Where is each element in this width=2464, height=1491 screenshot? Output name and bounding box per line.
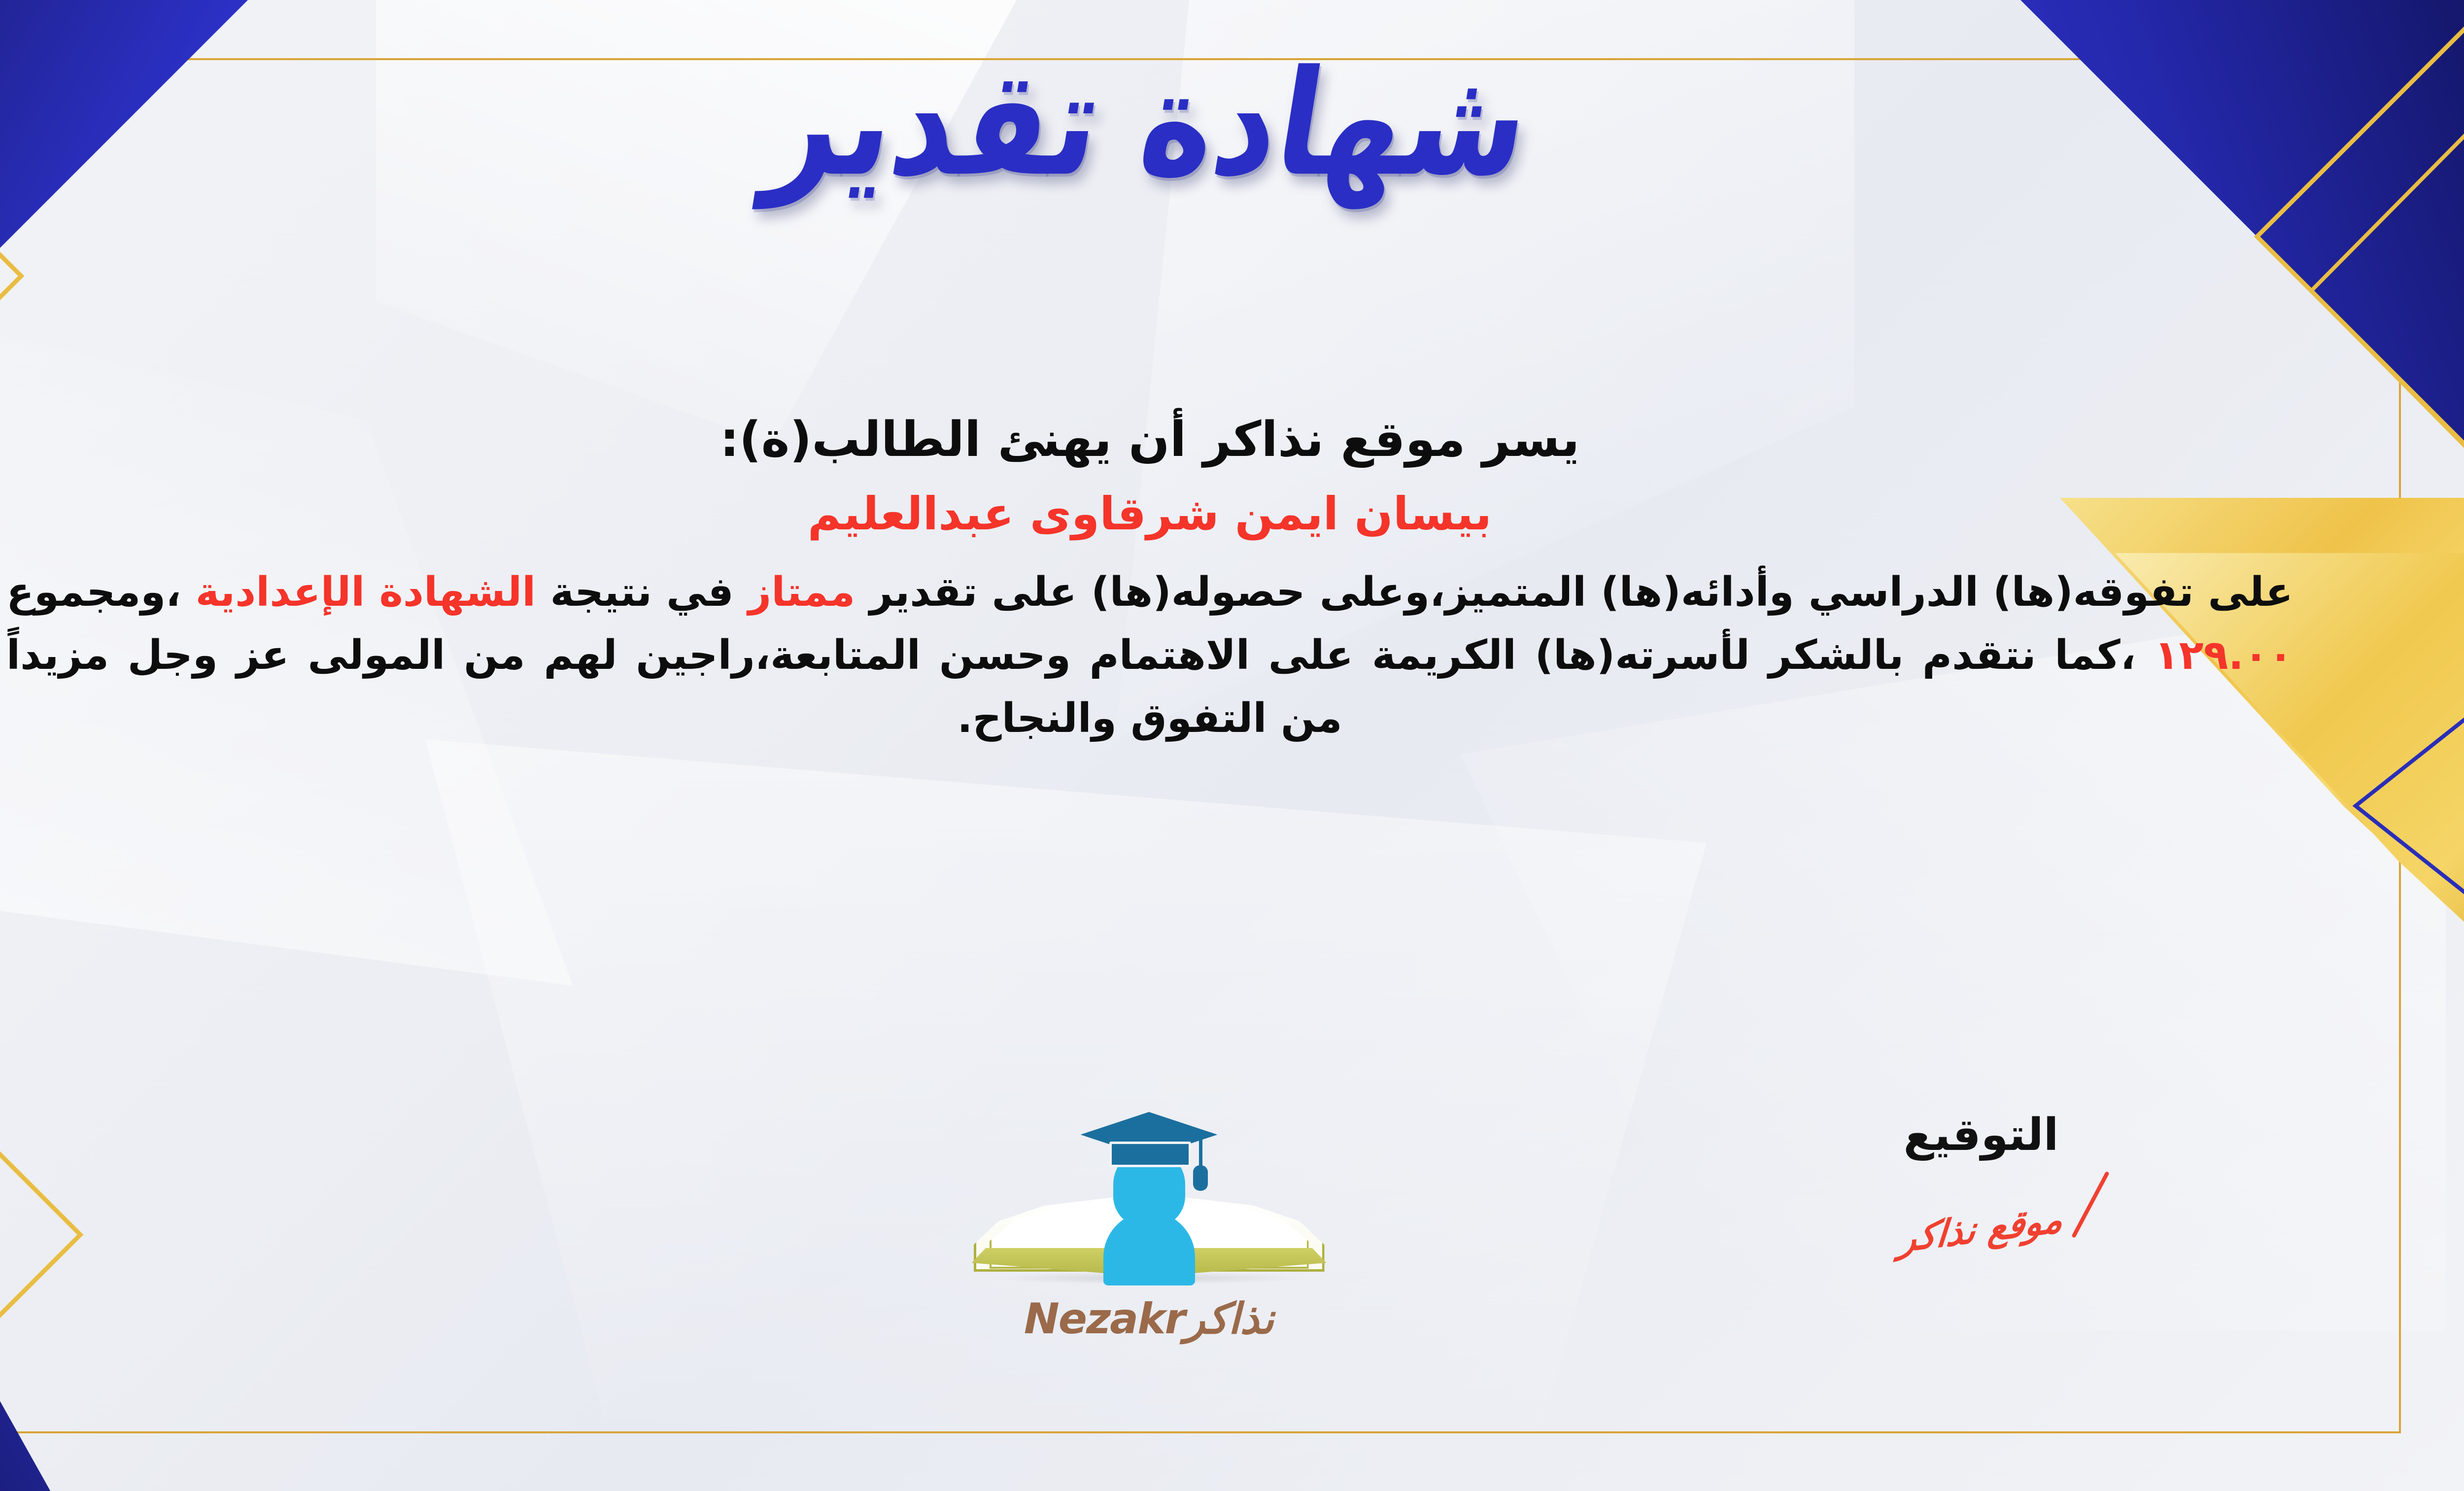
signature-mark: موقع نذاكر [1843,1182,2119,1276]
logo-wordmark-latin: Nezakr [1024,1294,1185,1344]
certificate-body: يسر موقع نذاكر أن يهنئ الطالب(ة): بيسان … [0,412,2303,750]
tassel-cord [1199,1132,1202,1170]
citation-segment-2: في نتيجة [550,569,733,616]
mortarboard-band [1109,1142,1191,1167]
citation-segment-1: على تفوقه(ها) الدراسي وأدائه(ها) المتميز… [869,569,2293,616]
brand-logo: نذاكرNezakr [957,1099,1341,1344]
greeting-line: يسر موقع نذاكر أن يهنئ الطالب(ة): [0,412,2303,468]
citation-segment-4: ،كما نتقدم بالشكر لأسرته(ها) الكريمة على… [6,632,2136,742]
citation-segment-3: ،ومجموع [6,569,181,616]
grade-value: ممتاز [748,569,855,616]
total-score-value: ١٢٩.٠٠ [2155,632,2293,679]
student-name: بيسان ايمن شرقاوى عبدالعليم [0,487,2303,540]
signature-handwriting: موقع نذاكر [1840,1165,2122,1294]
signature-block: التوقيع موقع نذاكر [1843,1109,2119,1276]
certificate-canvas: شهادة تقدير يسر موقع نذاكر أن يهنئ الطال… [0,0,2464,1491]
gold-chevron-line-bottom-left [0,840,475,1491]
tassel-knot [1193,1165,1208,1191]
paper-facet-1 [376,0,1017,444]
logo-wordmark-arabic: نذاكر [1185,1294,1274,1344]
signature-label: التوقيع [1843,1109,2119,1161]
certificate-name: الشهادة الإعدادية [196,569,536,616]
page-title: شهادة تقدير [756,33,1542,215]
logo-wordmark: نذاكرNezakr [957,1294,1341,1344]
citation-paragraph: على تفوقه(ها) الدراسي وأدائه(ها) المتميز… [0,561,2303,750]
blue-chevron-bottom-inner [0,717,351,1491]
logo-artwork [957,1099,1341,1291]
blue-chevron-bottom-outer [0,840,475,1491]
graduate-figure-icon [1083,1110,1216,1258]
corner-decor-bottom-left [0,840,475,1491]
certificate-title-wrap: شهادة تقدير [0,47,2464,201]
